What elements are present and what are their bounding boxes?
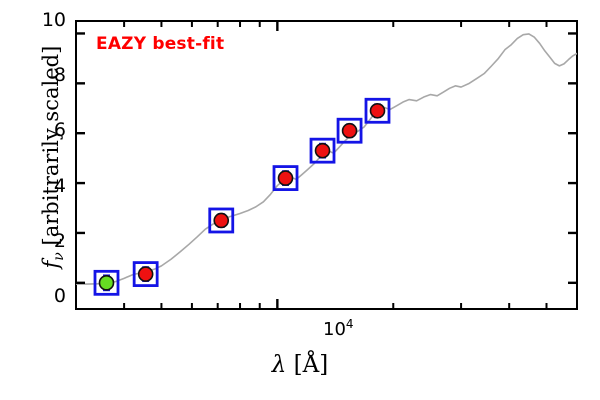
figure-canvas: 10 8 6 4 2 0 104 fν [arbitrarily scaled]…: [0, 0, 600, 400]
annotation-eazy-best-fit: EAZY best-fit: [96, 34, 224, 54]
x-tick-label-1e4: 104: [323, 318, 354, 339]
x-axis-label-var: λ: [272, 352, 287, 378]
plot-axes-frame: [75, 20, 578, 310]
x-axis-label-unit: [Å]: [294, 352, 329, 378]
x-tick-mantissa: 10: [323, 319, 346, 340]
y-axis-label-unit: [arbitrarily scaled]: [39, 46, 63, 252]
y-axis-label-var: f: [39, 261, 63, 269]
y-axis-label-subscript: ν: [51, 252, 67, 261]
y-axis-label: fν [arbitrarily scaled]: [39, 7, 67, 307]
x-axis-label: λ [Å]: [0, 352, 600, 378]
x-tick-exponent: 4: [346, 317, 354, 331]
